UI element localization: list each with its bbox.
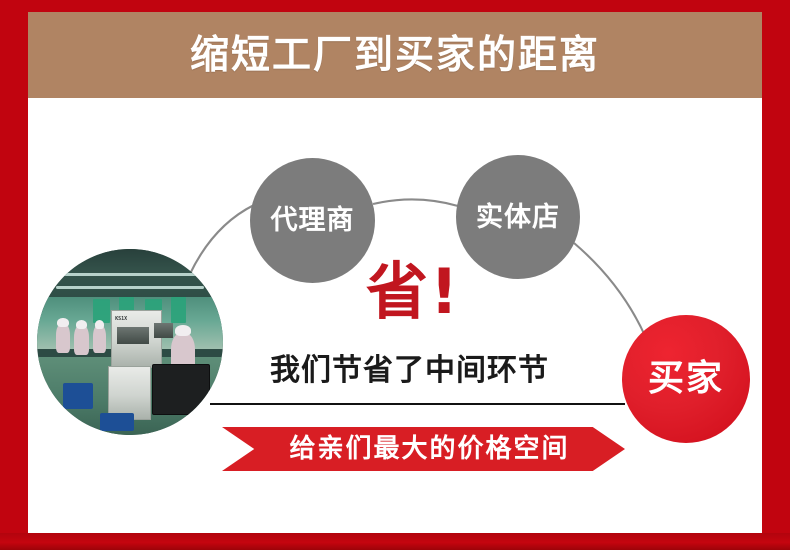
price-ribbon-banner: 给亲们最大的价格空间 <box>222 427 625 471</box>
photo-worker <box>74 325 89 355</box>
frame-border-right <box>762 0 790 550</box>
save-subtitle: 我们节省了中间环节 <box>270 356 549 386</box>
photo-worker-cap <box>57 318 68 327</box>
horizontal-divider <box>210 403 625 405</box>
node-store: 实体店 <box>456 155 580 279</box>
photo-monitor <box>154 323 173 338</box>
factory-photo: KS1X <box>37 249 223 435</box>
factory-photo-scene: KS1X <box>37 249 223 435</box>
photo-worker-cap <box>76 320 87 329</box>
save-highlight: 省! <box>366 261 460 323</box>
price-ribbon-label: 给亲们最大的价格空间 <box>289 436 569 462</box>
node-agent: 代理商 <box>250 158 375 283</box>
connector-agent-to-store <box>373 199 458 206</box>
node-buyer: 买家 <box>622 315 750 443</box>
frame-border-top <box>0 0 790 12</box>
photo-bin <box>100 413 133 432</box>
poster-canvas: 缩短工厂到买家的距离 <box>28 12 762 533</box>
photo-light-bar <box>48 273 212 276</box>
photo-worker <box>56 323 71 353</box>
header-bar: 缩短工厂到买家的距离 <box>28 12 762 98</box>
photo-crate <box>152 364 210 414</box>
photo-machine-label: KS1X <box>115 316 127 322</box>
connector-store-to-buyer <box>574 243 646 338</box>
photo-bin <box>63 383 93 409</box>
photo-green-panel <box>171 297 186 323</box>
photo-light-bar <box>56 286 205 289</box>
supply-chain-diagram: KS1X 代理商 实体店 买家 省! 我们节省了中间环节 <box>28 98 762 533</box>
page-title: 缩短工厂到买家的距离 <box>190 36 600 75</box>
node-buyer-label: 买家 <box>648 361 724 397</box>
frame-border-bottom <box>0 533 790 550</box>
photo-worker-cap <box>175 325 192 336</box>
node-agent-label: 代理商 <box>271 207 355 234</box>
frame-border-left <box>0 0 28 550</box>
photo-machine-window <box>117 327 149 344</box>
promo-poster: 缩短工厂到买家的距离 <box>0 0 790 550</box>
photo-worker <box>93 325 106 353</box>
node-store-label: 实体店 <box>476 204 560 231</box>
photo-worker-cap <box>95 320 104 329</box>
